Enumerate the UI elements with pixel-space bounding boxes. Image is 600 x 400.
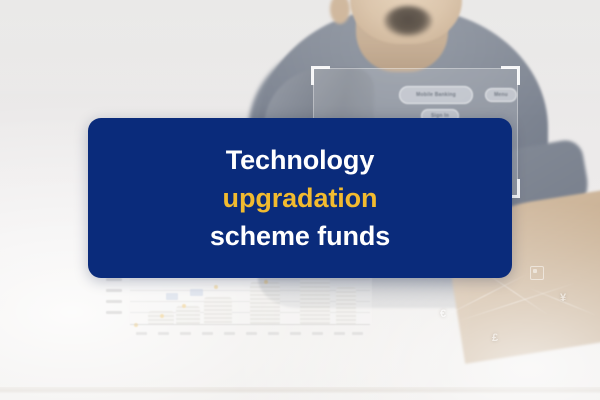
frame-corner-tl-icon	[311, 66, 330, 85]
coin-stack	[250, 282, 280, 324]
pound-symbol-icon: £	[492, 332, 498, 344]
coin-stack	[176, 306, 200, 324]
headline-card: Technology upgradation scheme funds	[88, 118, 512, 278]
coin-stack	[336, 287, 356, 324]
chart-point	[214, 285, 218, 289]
chart-x-tick	[202, 332, 213, 335]
chart-x-tick	[290, 332, 301, 335]
hud-chip-mobile-banking: Mobile Banking	[399, 86, 473, 104]
chart-marker	[166, 293, 178, 300]
chart-x-tick	[268, 332, 279, 335]
chart-y-tick	[106, 311, 122, 314]
banner-canvas: Mobile Banking Sign In Menu	[0, 0, 600, 400]
chart-x-tick	[352, 332, 363, 335]
chart-point	[160, 314, 164, 318]
network-link	[460, 283, 575, 321]
chart-point	[182, 304, 186, 308]
chart-x-axis	[130, 324, 370, 325]
hud-chip-menu: Menu	[485, 88, 517, 102]
headline-line-1: Technology	[226, 141, 375, 179]
chart-y-tick	[106, 300, 122, 303]
headline-line-3: scheme funds	[210, 217, 390, 255]
chart-x-tick	[334, 332, 345, 335]
yen-symbol-icon: ¥	[560, 292, 566, 304]
qr-node-icon	[530, 266, 544, 280]
chart-y-tick	[106, 289, 122, 292]
chart-x-tick	[246, 332, 257, 335]
headline-line-2: upgradation	[223, 179, 378, 217]
frame-corner-tr-icon	[501, 66, 520, 85]
chart-gridline	[130, 279, 370, 280]
coin-stack	[204, 297, 232, 324]
chart-x-tick	[158, 332, 169, 335]
chart-x-tick	[180, 332, 191, 335]
euro-symbol-icon: €	[440, 308, 446, 320]
coin-stack	[300, 274, 330, 324]
chart-y-tick	[106, 278, 122, 281]
chart-marker	[190, 289, 203, 296]
chart-x-tick	[224, 332, 235, 335]
chart-x-tick	[136, 332, 147, 335]
chart-point	[264, 280, 268, 284]
chart-x-tick	[312, 332, 323, 335]
